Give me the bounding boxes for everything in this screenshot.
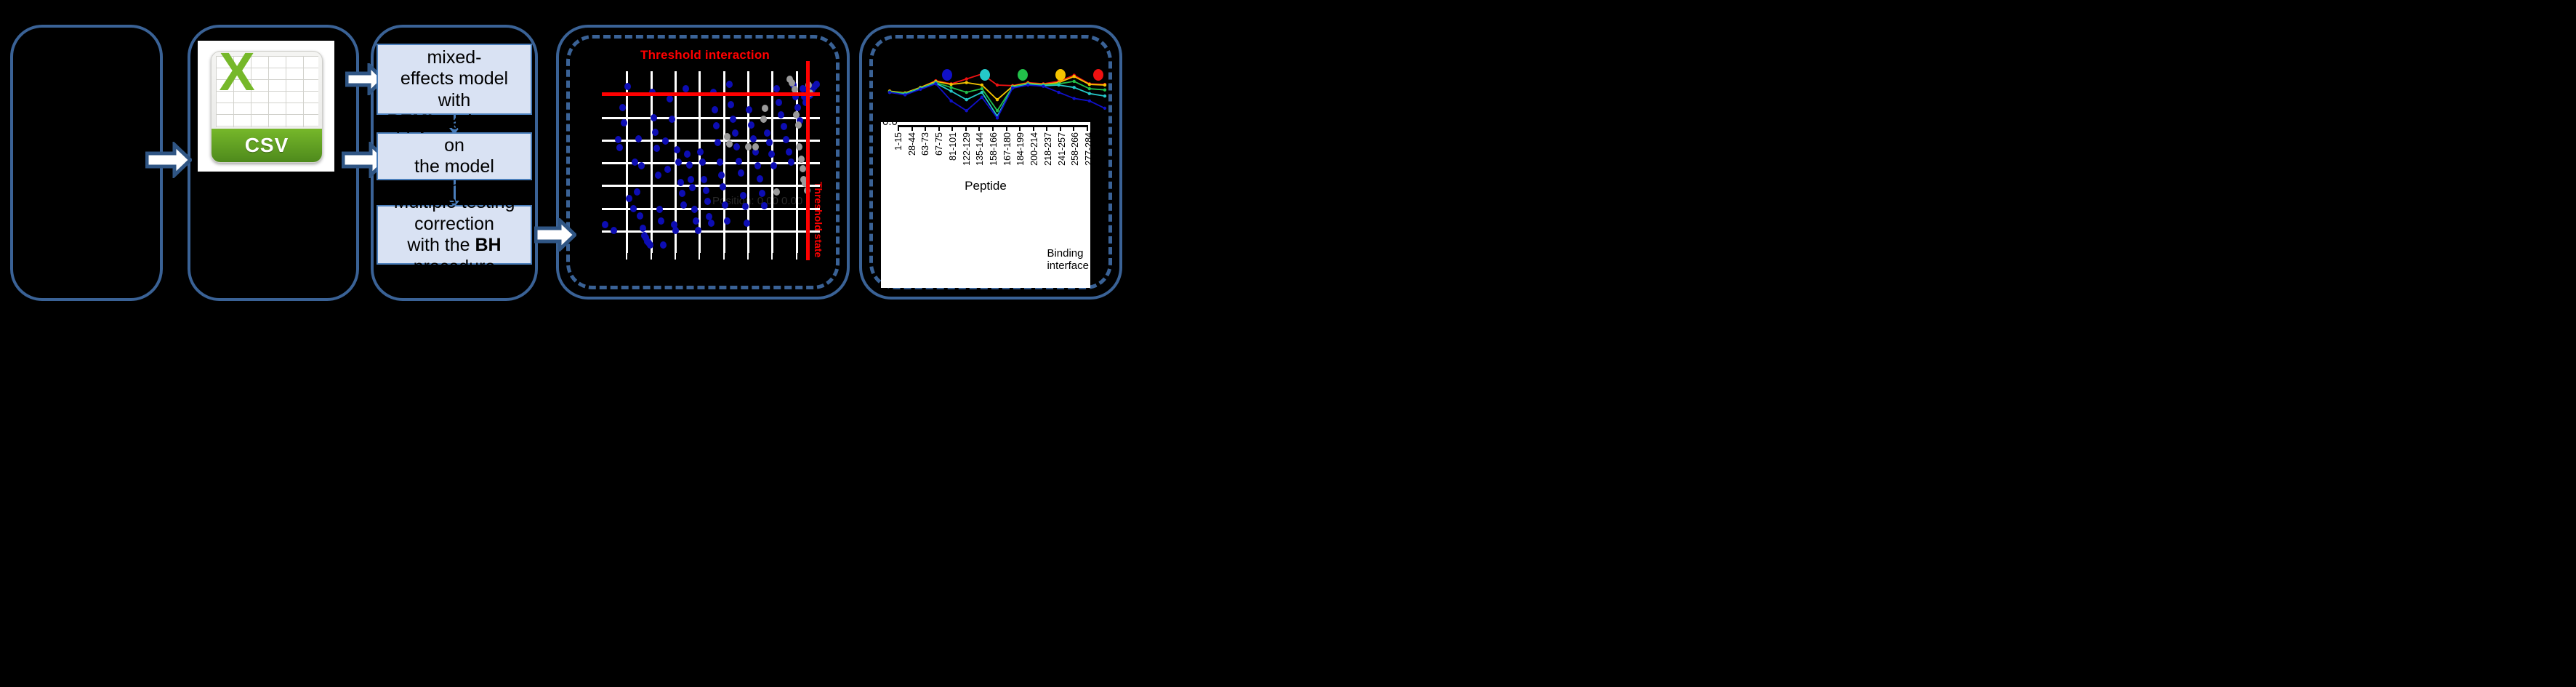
peptide-series-point <box>949 83 952 86</box>
peptide-tick <box>951 125 953 131</box>
scatter-point <box>773 188 780 196</box>
scatter-point <box>720 183 726 190</box>
peptide-axis-label: Peptide <box>881 179 1090 193</box>
peptide-tick-label: 167-180 <box>1002 132 1013 166</box>
scatter-point <box>679 190 685 197</box>
peptide-series-point <box>919 88 922 91</box>
scatter-point <box>726 140 733 148</box>
scatter-point <box>754 162 761 169</box>
peptide-series-point <box>1088 87 1091 90</box>
step-wald-bold: Wald tests <box>435 113 525 134</box>
peptide-series-point <box>996 116 999 119</box>
scatter-point <box>730 116 736 123</box>
legend-dot <box>942 69 952 81</box>
scatter-point <box>796 143 802 150</box>
scatter-point <box>726 81 733 88</box>
peptide-tick <box>1087 125 1088 131</box>
step-bh-line1: Multiple testing <box>394 192 515 212</box>
scatter-point <box>695 227 701 234</box>
scatter-point <box>794 104 801 111</box>
peptide-series-point <box>1103 107 1106 110</box>
scatter-point <box>718 172 725 179</box>
scatter-point <box>611 227 617 234</box>
scatter-point <box>697 148 704 156</box>
csv-badge-label: CSV <box>245 134 289 157</box>
scatter-point <box>759 190 765 197</box>
peptide-tick-label: 28-44 <box>907 132 917 156</box>
scatter-point <box>722 201 728 209</box>
peptide-series-point <box>1011 87 1014 89</box>
source-panel <box>10 25 163 301</box>
scatter-point <box>632 158 638 166</box>
peptide-tick <box>1019 125 1021 131</box>
step-bh-line2: correction <box>414 214 494 234</box>
peptide-series-point <box>981 87 983 90</box>
scatter-point <box>684 150 691 158</box>
peptide-tick <box>965 125 967 131</box>
arrow-stats-to-scatter <box>534 218 576 252</box>
peptide-tick-label: 67-75 <box>934 132 944 156</box>
scatter-point <box>744 220 750 227</box>
threshold-state-line <box>806 61 810 260</box>
peptide-series-point <box>981 91 983 94</box>
threshold-state-label: Threshold state <box>813 182 824 257</box>
peptide-series-point <box>996 84 999 87</box>
peptide-series-point <box>1042 84 1045 87</box>
scatter-point <box>783 136 789 143</box>
csv-file-icon: X CSV <box>198 41 334 172</box>
scatter-point <box>699 158 706 166</box>
peptide-legend <box>942 69 1102 81</box>
scatter-point <box>708 220 715 227</box>
step-wald-box[interactable]: Apply Wald tests on the model parameters <box>377 132 532 180</box>
scatter-point <box>660 241 667 249</box>
scatter-point <box>662 137 669 145</box>
peptide-tick-label: 81-101 <box>948 132 958 161</box>
peptide-series-point <box>1057 91 1060 94</box>
step-wald-pre: Apply <box>384 113 434 134</box>
peptide-tick-label: 135-144 <box>975 132 985 166</box>
binding-interface-annotation: Binding interface <box>1047 247 1089 273</box>
y-tick-zero: 0.0 <box>882 122 898 128</box>
scatter-point <box>658 217 664 225</box>
peptide-tick <box>1006 125 1007 131</box>
scatter-point <box>686 161 693 169</box>
scatter-point <box>637 212 643 220</box>
scatter-point <box>713 122 720 129</box>
step-bh-post: procedure <box>414 257 496 277</box>
scatter-point <box>635 135 642 142</box>
peptide-series-point <box>888 91 891 94</box>
scatter-point <box>619 104 626 111</box>
peptide-tick <box>898 125 899 131</box>
scatter-point <box>781 123 787 130</box>
scatter-point <box>680 201 687 209</box>
scatter-point <box>761 202 768 209</box>
scatter-point <box>724 133 730 140</box>
scatter-point <box>788 158 794 166</box>
scatter-point <box>624 83 631 90</box>
axis-tick <box>651 253 652 260</box>
grid-line-horizontal <box>602 117 820 119</box>
peptide-series-point <box>965 109 968 112</box>
peptide-series-point <box>981 96 983 99</box>
scatter-point <box>732 129 738 137</box>
scatter-point <box>647 241 653 249</box>
axis-tick <box>699 253 700 260</box>
peptide-tick-label: 184-199 <box>1015 132 1026 166</box>
scatter-point <box>752 143 759 150</box>
scatter-point <box>688 176 694 183</box>
scatter-point <box>675 158 682 166</box>
peptide-tick <box>1073 125 1074 131</box>
scatter-point <box>748 121 754 129</box>
peptide-axis-ticks <box>898 125 1087 131</box>
peptide-tick-label: 158-166 <box>989 132 999 166</box>
scatter-point <box>652 129 659 136</box>
scatter-point <box>760 116 767 123</box>
peptide-tick <box>1033 125 1034 131</box>
binding-interface-line2: interface <box>1047 260 1089 272</box>
csv-badge: CSV <box>212 129 322 162</box>
peptide-series-point <box>965 91 968 94</box>
grid-line-horizontal <box>602 185 820 187</box>
legend-dot <box>1055 69 1066 81</box>
peptide-line-svg <box>872 51 1112 124</box>
peptide-tick <box>1060 125 1061 131</box>
peptide-tick-label: 1-15 <box>893 132 903 150</box>
arrow-into-source <box>145 142 192 178</box>
axis-tick <box>747 253 749 260</box>
peptide-tick-label: 258-266 <box>1070 132 1080 166</box>
peptide-tick <box>911 125 913 131</box>
peptide-series-point <box>1088 83 1091 86</box>
scatter-point <box>786 148 792 156</box>
scatter-point <box>653 145 660 152</box>
scatter-point <box>768 150 775 158</box>
scatter-point <box>655 172 661 179</box>
peptide-series-point <box>949 86 952 89</box>
scatter-point <box>715 139 721 146</box>
legend-dot <box>1093 69 1103 81</box>
peptide-series-point <box>1103 88 1106 91</box>
peptide-tick-label: 218-237 <box>1043 132 1053 166</box>
peptide-series-point <box>996 109 999 112</box>
scatter-point <box>677 179 684 186</box>
scatter-point <box>616 144 623 151</box>
axis-tick <box>771 253 773 260</box>
csv-icon-body: X CSV <box>211 51 323 163</box>
scatter-point <box>770 162 777 169</box>
scatter-point <box>746 106 752 113</box>
peptide-series-point <box>965 81 968 84</box>
threshold-interaction-line <box>602 92 820 96</box>
scatter-point <box>615 136 621 143</box>
peptide-tick-label: 63-73 <box>920 132 930 156</box>
peptide-series-point <box>1088 100 1091 103</box>
peptide-series-point <box>1057 84 1060 87</box>
scatter-point <box>795 121 802 129</box>
peptide-series-point <box>949 100 952 103</box>
scatter-point <box>764 129 770 137</box>
step-bh-pre: with the <box>407 235 475 255</box>
scatter-point <box>664 166 671 173</box>
scatter-point <box>704 198 711 205</box>
scatter-point <box>602 221 608 228</box>
peptide-series-point <box>981 84 983 87</box>
peptide-series-point <box>903 93 906 96</box>
peptide-tick-label: 200-214 <box>1029 132 1039 166</box>
scatter-point <box>766 139 773 146</box>
step-reml-line2: effects model with <box>401 68 508 111</box>
peptide-profile-plot <box>872 51 1112 124</box>
peptide-series-point <box>1088 92 1091 95</box>
peptide-tick-label: 241-257 <box>1057 132 1067 166</box>
peptide-series-point <box>965 98 968 101</box>
scatter-point <box>701 176 707 183</box>
legend-dot <box>1018 69 1028 81</box>
scatter-point <box>800 165 806 172</box>
scatter-point <box>626 195 632 202</box>
step-reml-line1: Fit a linear mixed- <box>412 25 497 68</box>
scatter-point <box>762 105 768 112</box>
scatter-point <box>621 119 627 126</box>
peptide-tick <box>978 125 980 131</box>
step-bh-bold: BH <box>475 235 502 255</box>
peptide-series-point <box>1026 84 1029 87</box>
scatter-point <box>728 101 734 108</box>
peptide-tick <box>925 125 926 131</box>
excel-x-glyph: X <box>214 51 259 95</box>
scatter-point <box>813 81 820 88</box>
legend-dot <box>980 69 990 81</box>
scatter-point <box>667 95 673 103</box>
scatter-point <box>750 135 757 142</box>
peptide-tick-labels: 1-1528-4463-7367-7581-101122-129135-1441… <box>898 132 1089 177</box>
scatter-plot-area: Position: 0.00 0.00 Threshold state <box>602 71 820 253</box>
scatter-point <box>630 205 637 212</box>
peptide-series-point <box>1103 95 1106 97</box>
scatter-point <box>683 85 689 92</box>
peptide-tick-label: 122-129 <box>962 132 972 166</box>
peptide-series-point <box>1073 97 1076 100</box>
scatter-point <box>672 227 679 234</box>
axis-tick <box>796 253 797 260</box>
scatter-point <box>736 158 742 165</box>
scatter-point <box>745 143 752 150</box>
scatter-point <box>724 217 730 225</box>
peptide-series-point <box>949 89 952 92</box>
step-wald-post: on <box>444 135 464 156</box>
axis-tick <box>723 253 725 260</box>
peptide-series-point <box>1103 84 1106 87</box>
scatter-point <box>651 114 657 121</box>
scatter-point <box>703 187 709 194</box>
scatter-title: Threshold interaction <box>581 48 829 63</box>
peptide-tick <box>938 125 940 131</box>
peptide-series-point <box>996 98 999 101</box>
peptide-tick <box>1046 125 1047 131</box>
axis-tick <box>626 253 627 260</box>
pipeline-diagram: X CSV Fit a linear mixed- effects model … <box>0 0 2576 687</box>
scatter-point <box>634 188 640 196</box>
scatter-point <box>638 162 645 169</box>
scatter-point <box>674 146 680 153</box>
scatter-point <box>691 206 698 213</box>
binding-interface-line1: Binding <box>1047 247 1089 260</box>
scatter-point <box>733 143 740 150</box>
scatter-point <box>689 184 696 191</box>
peptide-series-point <box>1073 86 1076 89</box>
peptide-series-point <box>934 82 937 85</box>
step-reml-box[interactable]: Fit a linear mixed- effects model with R… <box>377 44 532 115</box>
peptide-tick-label: 277-284 <box>1084 132 1090 166</box>
scatter-point <box>738 169 744 177</box>
grid-line-horizontal <box>602 230 820 233</box>
scatter-point <box>656 206 663 213</box>
step-bh-box[interactable]: Multiple testing correction with the BH … <box>377 205 532 265</box>
peptide-tick <box>992 125 994 131</box>
scatter-point <box>776 99 782 106</box>
peptide-axis-card: 0.0 1-1528-4463-7367-7581-101122-129135-… <box>881 122 1090 288</box>
scatter-point <box>712 106 718 113</box>
axis-tick <box>675 253 676 260</box>
scatter-point <box>773 85 780 92</box>
scatter-point <box>757 175 763 182</box>
volcano-threshold-plot: Threshold interaction Position: 0.00 0.0… <box>581 38 829 278</box>
scatter-point <box>717 158 723 166</box>
